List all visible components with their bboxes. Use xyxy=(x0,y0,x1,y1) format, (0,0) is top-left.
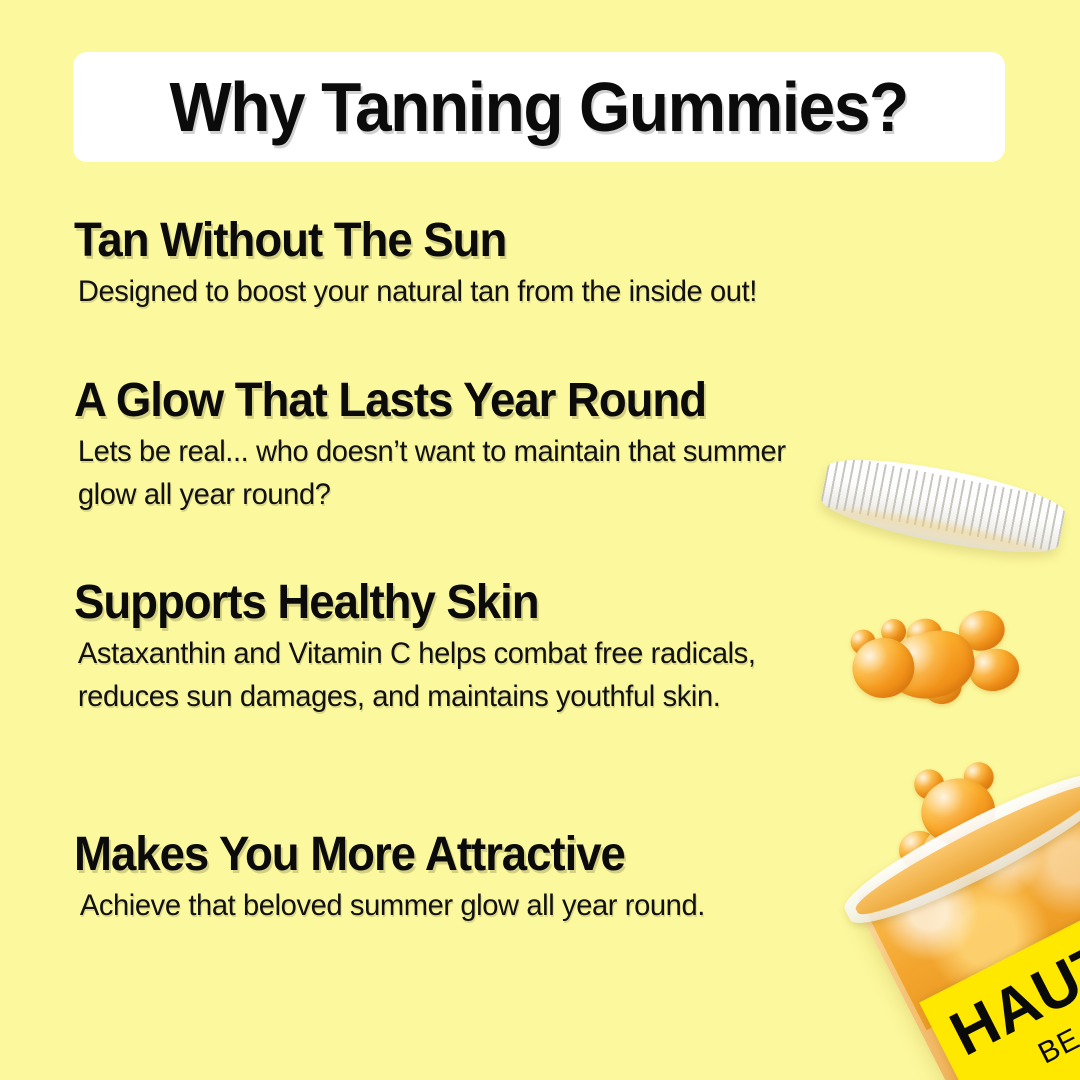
benefit-section-2: A Glow That Lasts Year Round Lets be rea… xyxy=(74,376,838,516)
benefit-heading-3: Supports Healthy Skin xyxy=(74,578,800,628)
benefit-section-1: Tan Without The Sun Designed to boost yo… xyxy=(74,216,778,313)
benefit-body-3: Astaxanthin and Vitamin C helps combat f… xyxy=(74,632,815,718)
benefit-heading-4: Makes You More Attractive xyxy=(74,830,692,880)
poster-canvas: Why Tanning Gummies? Tan Without The Sun… xyxy=(0,0,1080,1080)
benefits-list: Tan Without The Sun Designed to boost yo… xyxy=(0,0,1080,1080)
benefit-body-2: Lets be real... who doesn’t want to main… xyxy=(74,430,815,516)
benefit-body-1: Designed to boost your natural tan from … xyxy=(74,270,757,313)
benefit-heading-2: A Glow That Lasts Year Round xyxy=(74,376,800,426)
benefit-body-4: Achieve that beloved summer glow all yea… xyxy=(74,884,705,927)
benefit-section-4: Makes You More Attractive Achieve that b… xyxy=(74,830,724,927)
benefit-heading-1: Tan Without The Sun xyxy=(74,216,743,266)
benefit-section-3: Supports Healthy Skin Astaxanthin and Vi… xyxy=(74,578,838,718)
